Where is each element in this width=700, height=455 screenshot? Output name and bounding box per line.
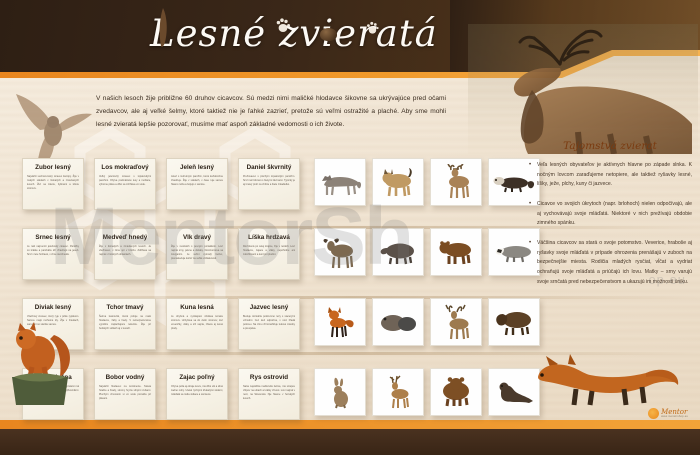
card-title: Zubor lesný [27,164,79,172]
animal-photo-brown-bear[interactable] [430,228,482,276]
animal-card[interactable]: Medveď hnedý Žije v listnatých a zmiešan… [94,228,156,280]
animal-card[interactable]: Zajac poľný Obýva polia aj okraje lesov,… [166,368,228,420]
secrets-bullet: Cicavce vo svojich úkrytoch (napr. brloh… [528,200,692,229]
card-title: Tchor tmavý [99,304,151,312]
sun-icon [648,408,659,419]
animal-photo-bison[interactable] [488,298,540,346]
animal-card[interactable]: Vlk dravý Žije v svorkách s pevným poria… [166,228,228,280]
secrets-bullet: Veľa lesných obyvateľov je aktívnych hla… [528,161,692,190]
card-body: Veľký jeleňovitý cicavec s lopatovitými … [99,175,151,187]
card-title: Líška hrdzavá [243,234,295,242]
grid-row: Srnec lesný Je náš najmenší jeleňovitý c… [22,228,530,298]
logo-tagline: www.mentorshop.eu [661,416,688,419]
card-title: Zajac poľný [171,374,223,382]
brand-logo[interactable]: Mentor www.mentorshop.eu [648,408,688,419]
grid-row: Diviak lesný Všežravý cicavec, ktorý ryj… [22,298,530,368]
feather-icon [156,8,170,48]
card-body: Obýva polia aj okraje lesov, má dlhé uši… [171,385,223,397]
animal-photo-brown-bear-standing[interactable] [430,368,482,416]
animal-photo-wolf[interactable] [314,158,366,206]
card-title: Jazvec lesný [243,304,295,312]
animal-photo-moose[interactable] [314,228,366,276]
acorn-icon [320,28,337,41]
card-body: Najväčší suchozemský cicavec Európy. Žij… [27,175,79,192]
roaring-deer-image [468,24,698,154]
animal-photo-wild-boar[interactable] [372,228,424,276]
paw-print-icon [366,20,379,35]
card-body: Je náš najmenší jeleňovitý cicavec. Paro… [27,245,79,257]
animal-photo-roe-deer[interactable] [372,368,424,416]
intro-paragraph: V našich lesoch žije približne 60 druhov… [96,93,446,132]
animal-photo-red-fox[interactable] [314,298,366,346]
card-body: Jeleň s mohutným parožím, ktoré každoroč… [171,175,223,187]
animal-card[interactable]: Jazvec lesný Buduje rozsiahle podzemné n… [238,298,300,350]
poster: Lesné zvieratá V našich lesoch žije prib… [0,0,700,455]
animal-photo-fallow-deer[interactable] [430,158,482,206]
card-body: Je ohybná a vynikajúco zdoláva konáre st… [171,315,223,332]
card-body: Žije v svorkách s pevným poriadkom. Loví… [171,245,223,262]
animal-card[interactable]: Zubor lesný Najväčší suchozemský cicavec… [22,158,84,210]
fox-image [520,351,680,407]
grid-row: Vydra riečna Výborne pláva a potápa sa, … [22,368,530,438]
card-title: Rys ostrovid [243,374,295,382]
card-title: Jeleň lesný [171,164,223,172]
animal-card[interactable]: Kuna lesná Je ohybná a vynikajúco zdoláv… [166,298,228,350]
animal-card[interactable]: Daniel škvrnitý Prežúvavec s plochým lop… [238,158,300,210]
card-body: Prežúvavec s plochým lopatovitým parožím… [243,175,295,187]
card-body: Buduje rozsiahle podzemné nory s viacerý… [243,315,295,332]
animal-card[interactable]: Srnec lesný Je náš najmenší jeleňovitý c… [22,228,84,280]
animal-photo-beaver[interactable] [372,298,424,346]
card-title: Medveď hnedý [99,234,151,242]
squirrel-image [2,315,80,407]
card-body: Žije v listnatých a zmiešaných lesoch. J… [99,245,151,257]
animal-card[interactable]: Jeleň lesný Jeleň s mohutným parožím, kt… [166,158,228,210]
animal-card[interactable]: Los mokraďový Veľký jeleňovitý cicavec s… [94,158,156,210]
card-title: Los mokraďový [99,164,151,172]
watermark-suffix: op.eu [648,272,686,287]
animal-photo-red-deer[interactable] [430,298,482,346]
card-title: Vlk dravý [171,234,223,242]
page-title: Lesné zvieratá [150,12,438,55]
secrets-list: Veľa lesných obyvateľov je aktívnych hla… [528,161,692,287]
animal-card[interactable]: Líška hrdzavá Rozšírená po celej krajine… [238,228,300,280]
card-title: Srnec lesný [27,234,79,242]
animal-grid: Zubor lesný Najväčší suchozemský cicavec… [22,158,530,428]
card-title: Bobor vodný [99,374,151,382]
card-body: Najväčší hlodavec na kontinente. Stavia … [99,385,151,402]
paw-print-icon [276,17,290,33]
animal-photo-lynx[interactable] [372,158,424,206]
card-title: Diviak lesný [27,304,79,312]
animal-card[interactable]: Tchor tmavý Šelma lasicovitá, ktorá poľu… [94,298,156,350]
grid-row: Zubor lesný Najväčší suchozemský cicavec… [22,158,530,228]
card-title: Daniel škvrnitý [243,164,295,172]
card-body: Šelma lasicovitá, ktorá poľuje na malé h… [99,315,151,332]
animal-card[interactable]: Bobor vodný Najväčší hlodavec na kontine… [94,368,156,420]
secrets-heading: Tajomstvá zvierat [528,140,692,152]
card-body: Rozšírená po celej krajine, žije v norác… [243,245,295,257]
animal-card[interactable]: Rys ostrovid Naša najväčšia mačkovitá še… [238,368,300,420]
animal-photo-hare[interactable] [314,368,366,416]
card-body: Naša najväčšia mačkovitá šelma, má strap… [243,385,295,402]
card-title: Kuna lesná [171,304,223,312]
